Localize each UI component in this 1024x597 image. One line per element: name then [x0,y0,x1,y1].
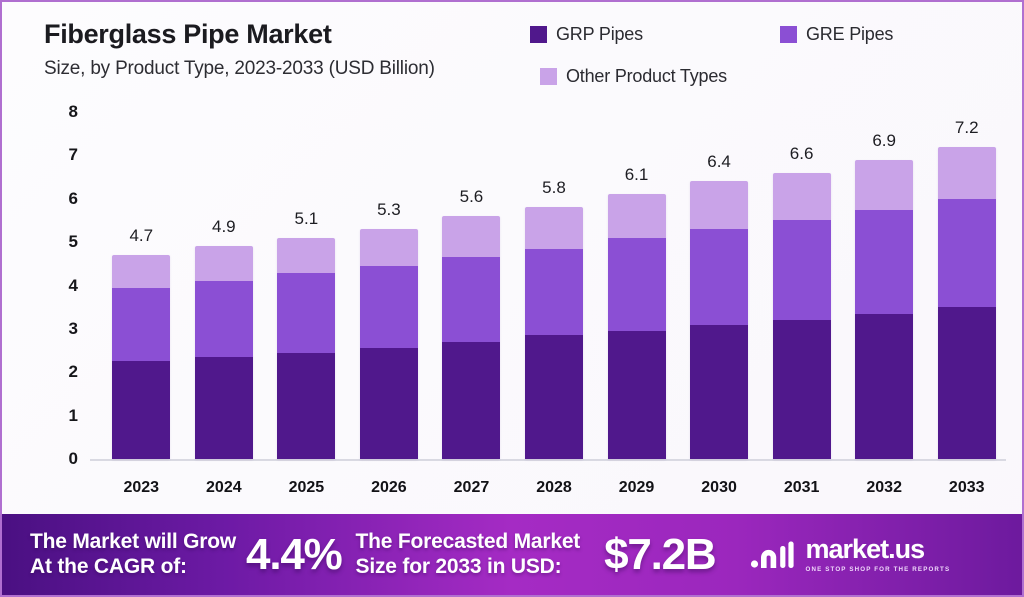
stacked-bar[interactable] [690,181,748,459]
bar-segment-grp-pipes[interactable] [608,331,666,459]
bar-segment-other-product-types[interactable] [442,216,500,257]
bar-group[interactable]: 6.62031 [773,112,831,459]
bar-segment-other-product-types[interactable] [608,194,666,237]
stacked-bar[interactable] [277,238,335,459]
bar-total-label: 5.6 [460,187,484,207]
stacked-bar[interactable] [525,207,583,459]
x-axis-tick-label: 2023 [123,479,159,497]
bar-segment-grp-pipes[interactable] [690,325,748,459]
stacked-bar[interactable] [608,194,666,459]
bar-total-label: 7.2 [955,118,979,138]
stacked-bar[interactable] [773,173,831,459]
bar-group[interactable]: 6.92032 [855,112,913,459]
cagr-value: 4.4% [246,533,342,577]
bar-segment-other-product-types[interactable] [855,160,913,210]
market-us-logo-mark-icon [750,538,796,572]
bar-segment-gre-pipes[interactable] [525,249,583,336]
x-axis-tick-label: 2033 [949,479,985,497]
x-axis-tick-label: 2029 [619,479,655,497]
bar-segment-gre-pipes[interactable] [773,220,831,320]
cagr-block: The Market will Grow At the CAGR of: 4.4… [2,514,342,595]
bar-segment-other-product-types[interactable] [773,173,831,221]
bar-group[interactable]: 6.42030 [690,112,748,459]
bar-group[interactable]: 4.72023 [112,112,170,459]
bar-total-label: 4.7 [129,226,153,246]
market-us-logo-text: market.us ONE STOP SHOP FOR THE REPORTS [806,536,951,573]
stacked-bar[interactable] [195,246,253,459]
bar-segment-grp-pipes[interactable] [938,307,996,459]
bar-segment-gre-pipes[interactable] [195,281,253,357]
cagr-caption-line2: At the CAGR of: [30,555,236,580]
infographic-root: Fiberglass Pipe Market Size, by Product … [0,0,1024,597]
x-axis-tick-label: 2032 [866,479,902,497]
bar-total-label: 5.8 [542,178,566,198]
bar-segment-other-product-types[interactable] [525,207,583,248]
bar-total-label: 6.4 [707,152,731,172]
x-axis-tick-label: 2024 [206,479,242,497]
x-axis-tick-label: 2031 [784,479,820,497]
bar-group[interactable]: 5.12025 [277,112,335,459]
bar-segment-gre-pipes[interactable] [690,229,748,324]
bar-segment-gre-pipes[interactable] [360,266,418,348]
stacked-bar[interactable] [938,147,996,459]
bar-segment-gre-pipes[interactable] [442,257,500,342]
stacked-bar[interactable] [112,255,170,459]
bar-segment-other-product-types[interactable] [277,238,335,273]
x-axis-tick-label: 2026 [371,479,407,497]
bar-segment-grp-pipes[interactable] [112,361,170,459]
forecast-caption-line2: Size for 2033 in USD: [356,555,581,580]
cagr-caption: The Market will Grow At the CAGR of: [30,530,236,580]
bar-segment-other-product-types[interactable] [360,229,418,266]
bar-segment-grp-pipes[interactable] [525,335,583,459]
x-axis-tick-label: 2025 [289,479,325,497]
bar-group[interactable]: 5.32026 [360,112,418,459]
x-axis-tick-label: 2027 [454,479,490,497]
bar-segment-gre-pipes[interactable] [608,238,666,331]
cagr-caption-line1: The Market will Grow [30,530,236,555]
bar-segment-other-product-types[interactable] [112,255,170,288]
stacked-bar[interactable] [360,229,418,459]
bar-segment-grp-pipes[interactable] [360,348,418,459]
bar-total-label: 5.3 [377,200,401,220]
bar-group[interactable]: 5.62027 [442,112,500,459]
forecast-value: $7.2B [604,533,715,577]
bar-segment-grp-pipes[interactable] [442,342,500,459]
bar-group[interactable]: 7.22033 [938,112,996,459]
bottom-banner: The Market will Grow At the CAGR of: 4.4… [2,514,1022,595]
bar-total-label: 5.1 [295,209,319,229]
bar-segment-grp-pipes[interactable] [277,353,335,459]
bar-segment-grp-pipes[interactable] [855,314,913,459]
forecast-caption-line1: The Forecasted Market [356,530,581,555]
bar-segment-other-product-types[interactable] [195,246,253,281]
bar-total-label: 6.6 [790,144,814,164]
bar-segment-gre-pipes[interactable] [277,273,335,353]
forecast-caption: The Forecasted Market Size for 2033 in U… [356,530,581,580]
bar-group[interactable]: 5.82028 [525,112,583,459]
bar-segment-grp-pipes[interactable] [773,320,831,459]
bars-layer: 4.720234.920245.120255.320265.620275.820… [2,2,1024,514]
logo-wordmark: market.us [806,536,951,563]
bar-segment-other-product-types[interactable] [690,181,748,229]
bar-group[interactable]: 6.12029 [608,112,666,459]
stacked-bar[interactable] [442,216,500,459]
bar-total-label: 6.1 [625,165,649,185]
bar-group[interactable]: 4.92024 [195,112,253,459]
bar-segment-gre-pipes[interactable] [112,288,170,362]
chart-plot-area: 012345678 4.720234.920245.120255.320265.… [2,2,1024,514]
bar-segment-gre-pipes[interactable] [938,199,996,307]
bar-segment-grp-pipes[interactable] [195,357,253,459]
bar-total-label: 6.9 [872,131,896,151]
forecast-block: The Forecasted Market Size for 2033 in U… [342,514,716,595]
bar-total-label: 4.9 [212,217,236,237]
market-us-logo[interactable]: market.us ONE STOP SHOP FOR THE REPORTS [750,536,951,573]
logo-tagline: ONE STOP SHOP FOR THE REPORTS [806,566,951,573]
stacked-bar[interactable] [855,160,913,459]
x-axis-tick-label: 2028 [536,479,572,497]
x-axis-tick-label: 2030 [701,479,737,497]
bar-segment-gre-pipes[interactable] [855,210,913,314]
bar-segment-other-product-types[interactable] [938,147,996,199]
